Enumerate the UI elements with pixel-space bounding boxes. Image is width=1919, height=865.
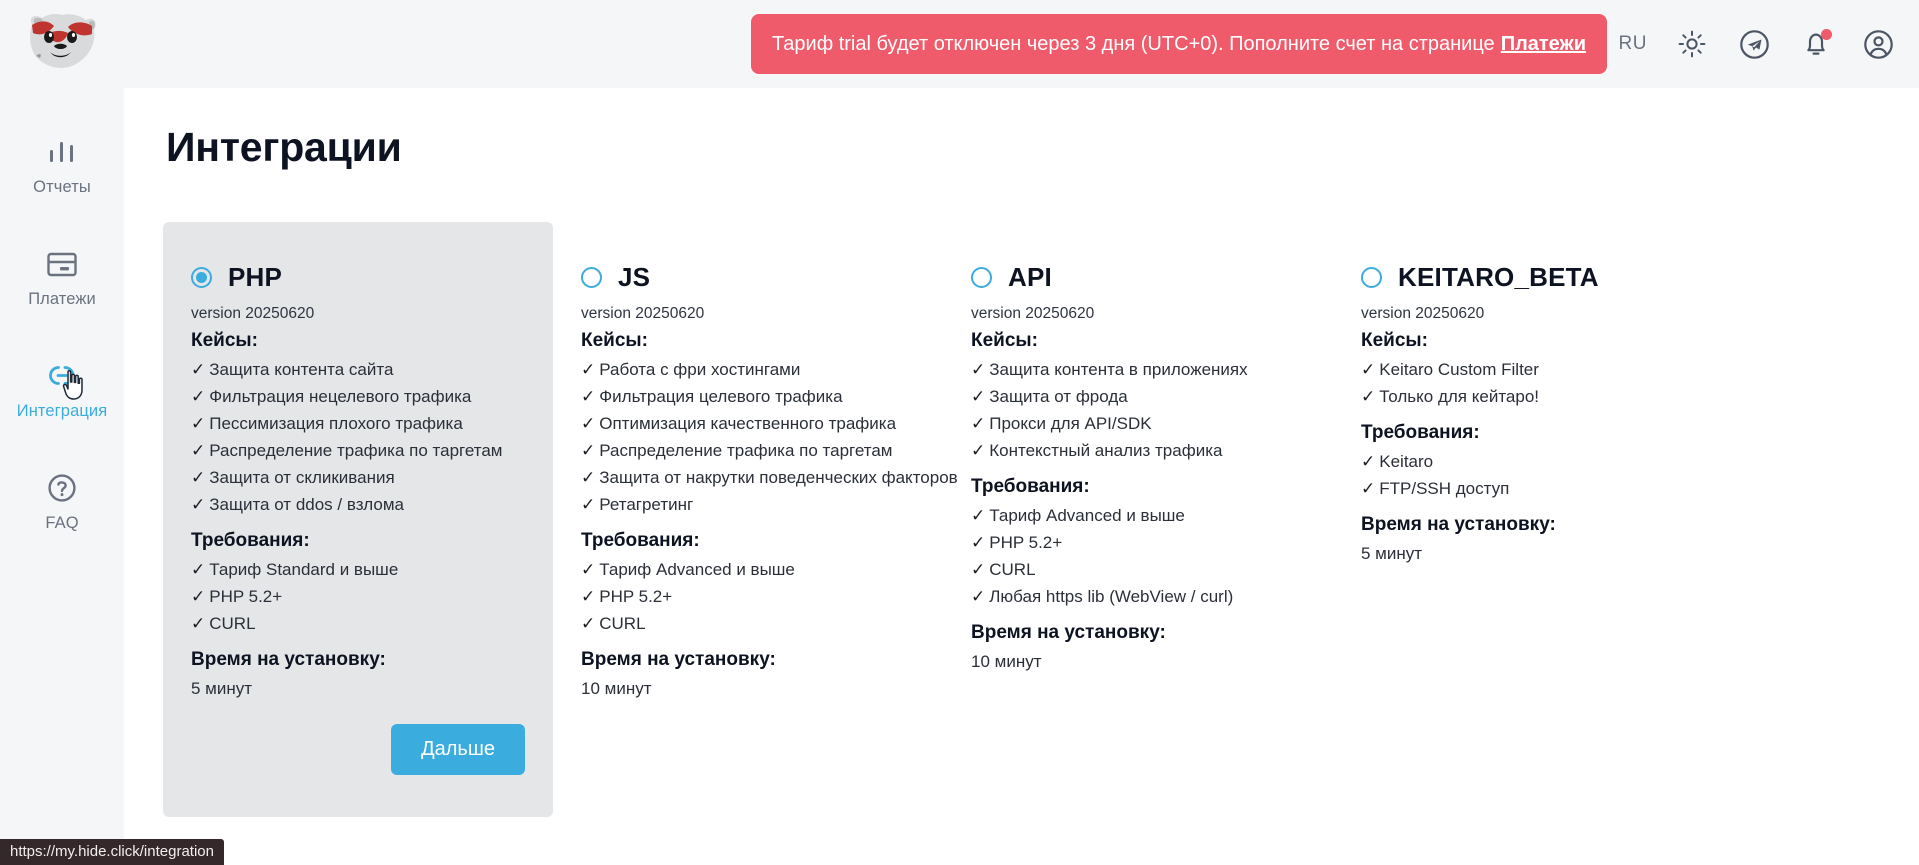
check-icon: ✓ <box>971 385 985 409</box>
requirements-list-api: ✓Тариф Advanced и выше ✓PHP 5.2+ ✓CURL ✓… <box>971 502 1305 610</box>
raccoon-logo[interactable] <box>25 10 99 76</box>
user-circle-icon[interactable] <box>1861 27 1895 61</box>
check-icon: ✓ <box>971 531 985 555</box>
list-item: ✓Оптимизация качественного трафика <box>581 410 915 437</box>
topbar-actions: RU <box>1619 0 1895 88</box>
sidebar-item-reports[interactable]: Отчеты <box>0 124 124 206</box>
cases-heading-api: Кейсы: <box>971 330 1305 352</box>
list-item: ✓CURL <box>191 610 525 637</box>
check-icon: ✓ <box>1361 477 1375 501</box>
cases-list-js: ✓Работа с фри хостингами ✓Фильтрация цел… <box>581 356 915 518</box>
check-icon: ✓ <box>581 412 595 436</box>
list-item: ✓Только для кейтаро! <box>1361 383 1695 410</box>
integration-card-api[interactable]: API version 20250620 Кейсы: ✓Защита конт… <box>943 222 1333 817</box>
install-time-heading-php: Время на установку: <box>191 649 525 671</box>
check-icon: ✓ <box>191 358 205 382</box>
install-time-value-js: 10 минут <box>581 675 915 702</box>
trial-alert-text: Тариф trial будет отключен через 3 дня (… <box>772 33 1495 56</box>
sidebar-nav: Отчеты Платежи <box>0 124 124 572</box>
card-icon <box>43 245 81 283</box>
list-item: ✓Защита от ddos / взлома <box>191 491 525 518</box>
cases-list-api: ✓Защита контента в приложениях ✓Защита о… <box>971 356 1305 464</box>
status-bar-url: https://my.hide.click/integration <box>0 839 224 865</box>
list-item: ✓Тариф Advanced и выше <box>581 556 915 583</box>
check-icon: ✓ <box>1361 450 1375 474</box>
check-icon: ✓ <box>1361 358 1375 382</box>
list-item: ✓PHP 5.2+ <box>971 529 1305 556</box>
cases-heading-js: Кейсы: <box>581 330 915 352</box>
card-version-keitaro-beta: version 20250620 <box>1361 305 1695 323</box>
list-item: ✓Защита контента сайта <box>191 356 525 383</box>
install-time-heading-js: Время на установку: <box>581 649 915 671</box>
card-footer-php: Дальше <box>191 724 525 775</box>
check-icon: ✓ <box>191 493 205 517</box>
integration-card-keitaro-beta[interactable]: KEITARO_BETA version 20250620 Кейсы: ✓Ke… <box>1333 222 1723 817</box>
requirements-heading-keitaro-beta: Требования: <box>1361 422 1695 444</box>
list-item: ✓CURL <box>581 610 915 637</box>
integration-card-js[interactable]: JS version 20250620 Кейсы: ✓Работа с фри… <box>553 222 943 817</box>
link-icon <box>43 357 81 395</box>
check-icon: ✓ <box>581 439 595 463</box>
list-item: ✓PHP 5.2+ <box>581 583 915 610</box>
integration-card-php[interactable]: PHP version 20250620 Кейсы: ✓Защита конт… <box>163 222 553 817</box>
list-item: ✓Фильтрация целевого трафика <box>581 383 915 410</box>
sidebar-item-label-integration: Интеграция <box>17 402 108 421</box>
card-version-api: version 20250620 <box>971 305 1305 323</box>
check-icon: ✓ <box>971 412 985 436</box>
app-root: Отчеты Платежи <box>0 0 1919 865</box>
radio-api[interactable] <box>971 267 992 288</box>
card-version-js: version 20250620 <box>581 305 915 323</box>
next-button[interactable]: Дальше <box>391 724 525 775</box>
cases-heading-php: Кейсы: <box>191 330 525 352</box>
install-time-heading-keitaro-beta: Время на установку: <box>1361 514 1695 536</box>
card-title-keitaro-beta: KEITARO_BETA <box>1398 262 1599 293</box>
requirements-list-js: ✓Тариф Advanced и выше ✓PHP 5.2+ ✓CURL <box>581 556 915 637</box>
list-item: ✓Фильтрация нецелевого трафика <box>191 383 525 410</box>
telegram-icon[interactable] <box>1737 27 1771 61</box>
sidebar-item-payments[interactable]: Платежи <box>0 236 124 318</box>
list-item: ✓Защита от накрутки поведенческих фактор… <box>581 464 915 491</box>
language-switcher[interactable]: RU <box>1619 33 1647 55</box>
check-icon: ✓ <box>581 385 595 409</box>
list-item: ✓Ретагретинг <box>581 491 915 518</box>
card-header-php[interactable]: PHP <box>191 262 525 293</box>
requirements-list-php: ✓Тариф Standard и выше ✓PHP 5.2+ ✓CURL <box>191 556 525 637</box>
check-icon: ✓ <box>191 466 205 490</box>
list-item: ✓PHP 5.2+ <box>191 583 525 610</box>
list-item: ✓Контекстный анализ трафика <box>971 437 1305 464</box>
list-item: ✓Защита от фрода <box>971 383 1305 410</box>
card-header-js[interactable]: JS <box>581 262 915 293</box>
card-header-keitaro-beta[interactable]: KEITARO_BETA <box>1361 262 1695 293</box>
check-icon: ✓ <box>971 585 985 609</box>
check-icon: ✓ <box>581 612 595 636</box>
list-item: ✓CURL <box>971 556 1305 583</box>
sidebar-item-label-faq: FAQ <box>45 514 78 533</box>
check-icon: ✓ <box>191 439 205 463</box>
sidebar-item-label-reports: Отчеты <box>33 178 91 197</box>
check-icon: ✓ <box>581 466 595 490</box>
requirements-heading-php: Требования: <box>191 530 525 552</box>
check-icon: ✓ <box>581 358 595 382</box>
requirements-list-keitaro-beta: ✓Keitaro ✓FTP/SSH доступ <box>1361 448 1695 502</box>
list-item: ✓Keitaro Custom Filter <box>1361 356 1695 383</box>
list-item: ✓Распределение трафика по таргетам <box>191 437 525 464</box>
list-item: ✓Пессимизация плохого трафика <box>191 410 525 437</box>
sidebar-item-label-payments: Платежи <box>28 290 96 309</box>
sidebar-item-integration[interactable]: Интеграция <box>0 348 124 430</box>
check-icon: ✓ <box>971 558 985 582</box>
check-icon: ✓ <box>581 493 595 517</box>
check-icon: ✓ <box>191 412 205 436</box>
check-icon: ✓ <box>1361 385 1375 409</box>
install-time-heading-api: Время на установку: <box>971 622 1305 644</box>
list-item: ✓Работа с фри хостингами <box>581 356 915 383</box>
list-item: ✓Тариф Advanced и выше <box>971 502 1305 529</box>
radio-js[interactable] <box>581 267 602 288</box>
install-time-value-php: 5 минут <box>191 675 525 702</box>
card-header-api[interactable]: API <box>971 262 1305 293</box>
check-icon: ✓ <box>581 585 595 609</box>
check-icon: ✓ <box>581 558 595 582</box>
card-title-api: API <box>1008 262 1052 293</box>
install-time-value-keitaro-beta: 5 минут <box>1361 540 1695 567</box>
cases-list-keitaro-beta: ✓Keitaro Custom Filter ✓Только для кейта… <box>1361 356 1695 410</box>
cases-list-php: ✓Защита контента сайта ✓Фильтрация нецел… <box>191 356 525 518</box>
check-icon: ✓ <box>191 558 205 582</box>
main-content: Интеграции PHP version 20250620 Кейсы: ✓… <box>124 88 1919 865</box>
check-icon: ✓ <box>971 439 985 463</box>
list-item: ✓Тариф Standard и выше <box>191 556 525 583</box>
list-item: ✓Keitaro <box>1361 448 1695 475</box>
bell-icon[interactable] <box>1799 27 1833 61</box>
sidebar: Отчеты Платежи <box>0 0 124 865</box>
list-item: ✓Защита контента в приложениях <box>971 356 1305 383</box>
notification-badge <box>1821 29 1832 40</box>
check-icon: ✓ <box>971 358 985 382</box>
sun-icon[interactable] <box>1675 27 1709 61</box>
list-item: ✓FTP/SSH доступ <box>1361 475 1695 502</box>
check-icon: ✓ <box>191 385 205 409</box>
topbar: Тариф trial будет отключен через 3 дня (… <box>124 0 1919 88</box>
trial-alert-banner: Тариф trial будет отключен через 3 дня (… <box>751 14 1607 74</box>
integration-cards-row: PHP version 20250620 Кейсы: ✓Защита конт… <box>163 222 1723 817</box>
bar-chart-icon <box>43 133 81 171</box>
card-version-php: version 20250620 <box>191 305 525 323</box>
radio-php[interactable] <box>191 267 212 288</box>
list-item: ✓Любая https lib (WebView / curl) <box>971 583 1305 610</box>
question-circle-icon <box>43 469 81 507</box>
list-item: ✓Защита от скликивания <box>191 464 525 491</box>
cases-heading-keitaro-beta: Кейсы: <box>1361 330 1695 352</box>
requirements-heading-js: Требования: <box>581 530 915 552</box>
check-icon: ✓ <box>191 612 205 636</box>
trial-alert-payments-link[interactable]: Платежи <box>1501 33 1586 56</box>
radio-keitaro-beta[interactable] <box>1361 267 1382 288</box>
requirements-heading-api: Требования: <box>971 476 1305 498</box>
card-title-php: PHP <box>228 262 282 293</box>
list-item: ✓Распределение трафика по таргетам <box>581 437 915 464</box>
check-icon: ✓ <box>971 504 985 528</box>
sidebar-item-faq[interactable]: FAQ <box>0 460 124 542</box>
check-icon: ✓ <box>191 585 205 609</box>
card-title-js: JS <box>618 262 650 293</box>
install-time-value-api: 10 минут <box>971 648 1305 675</box>
list-item: ✓Прокси для API/SDK <box>971 410 1305 437</box>
page-title: Интеграции <box>166 124 402 171</box>
